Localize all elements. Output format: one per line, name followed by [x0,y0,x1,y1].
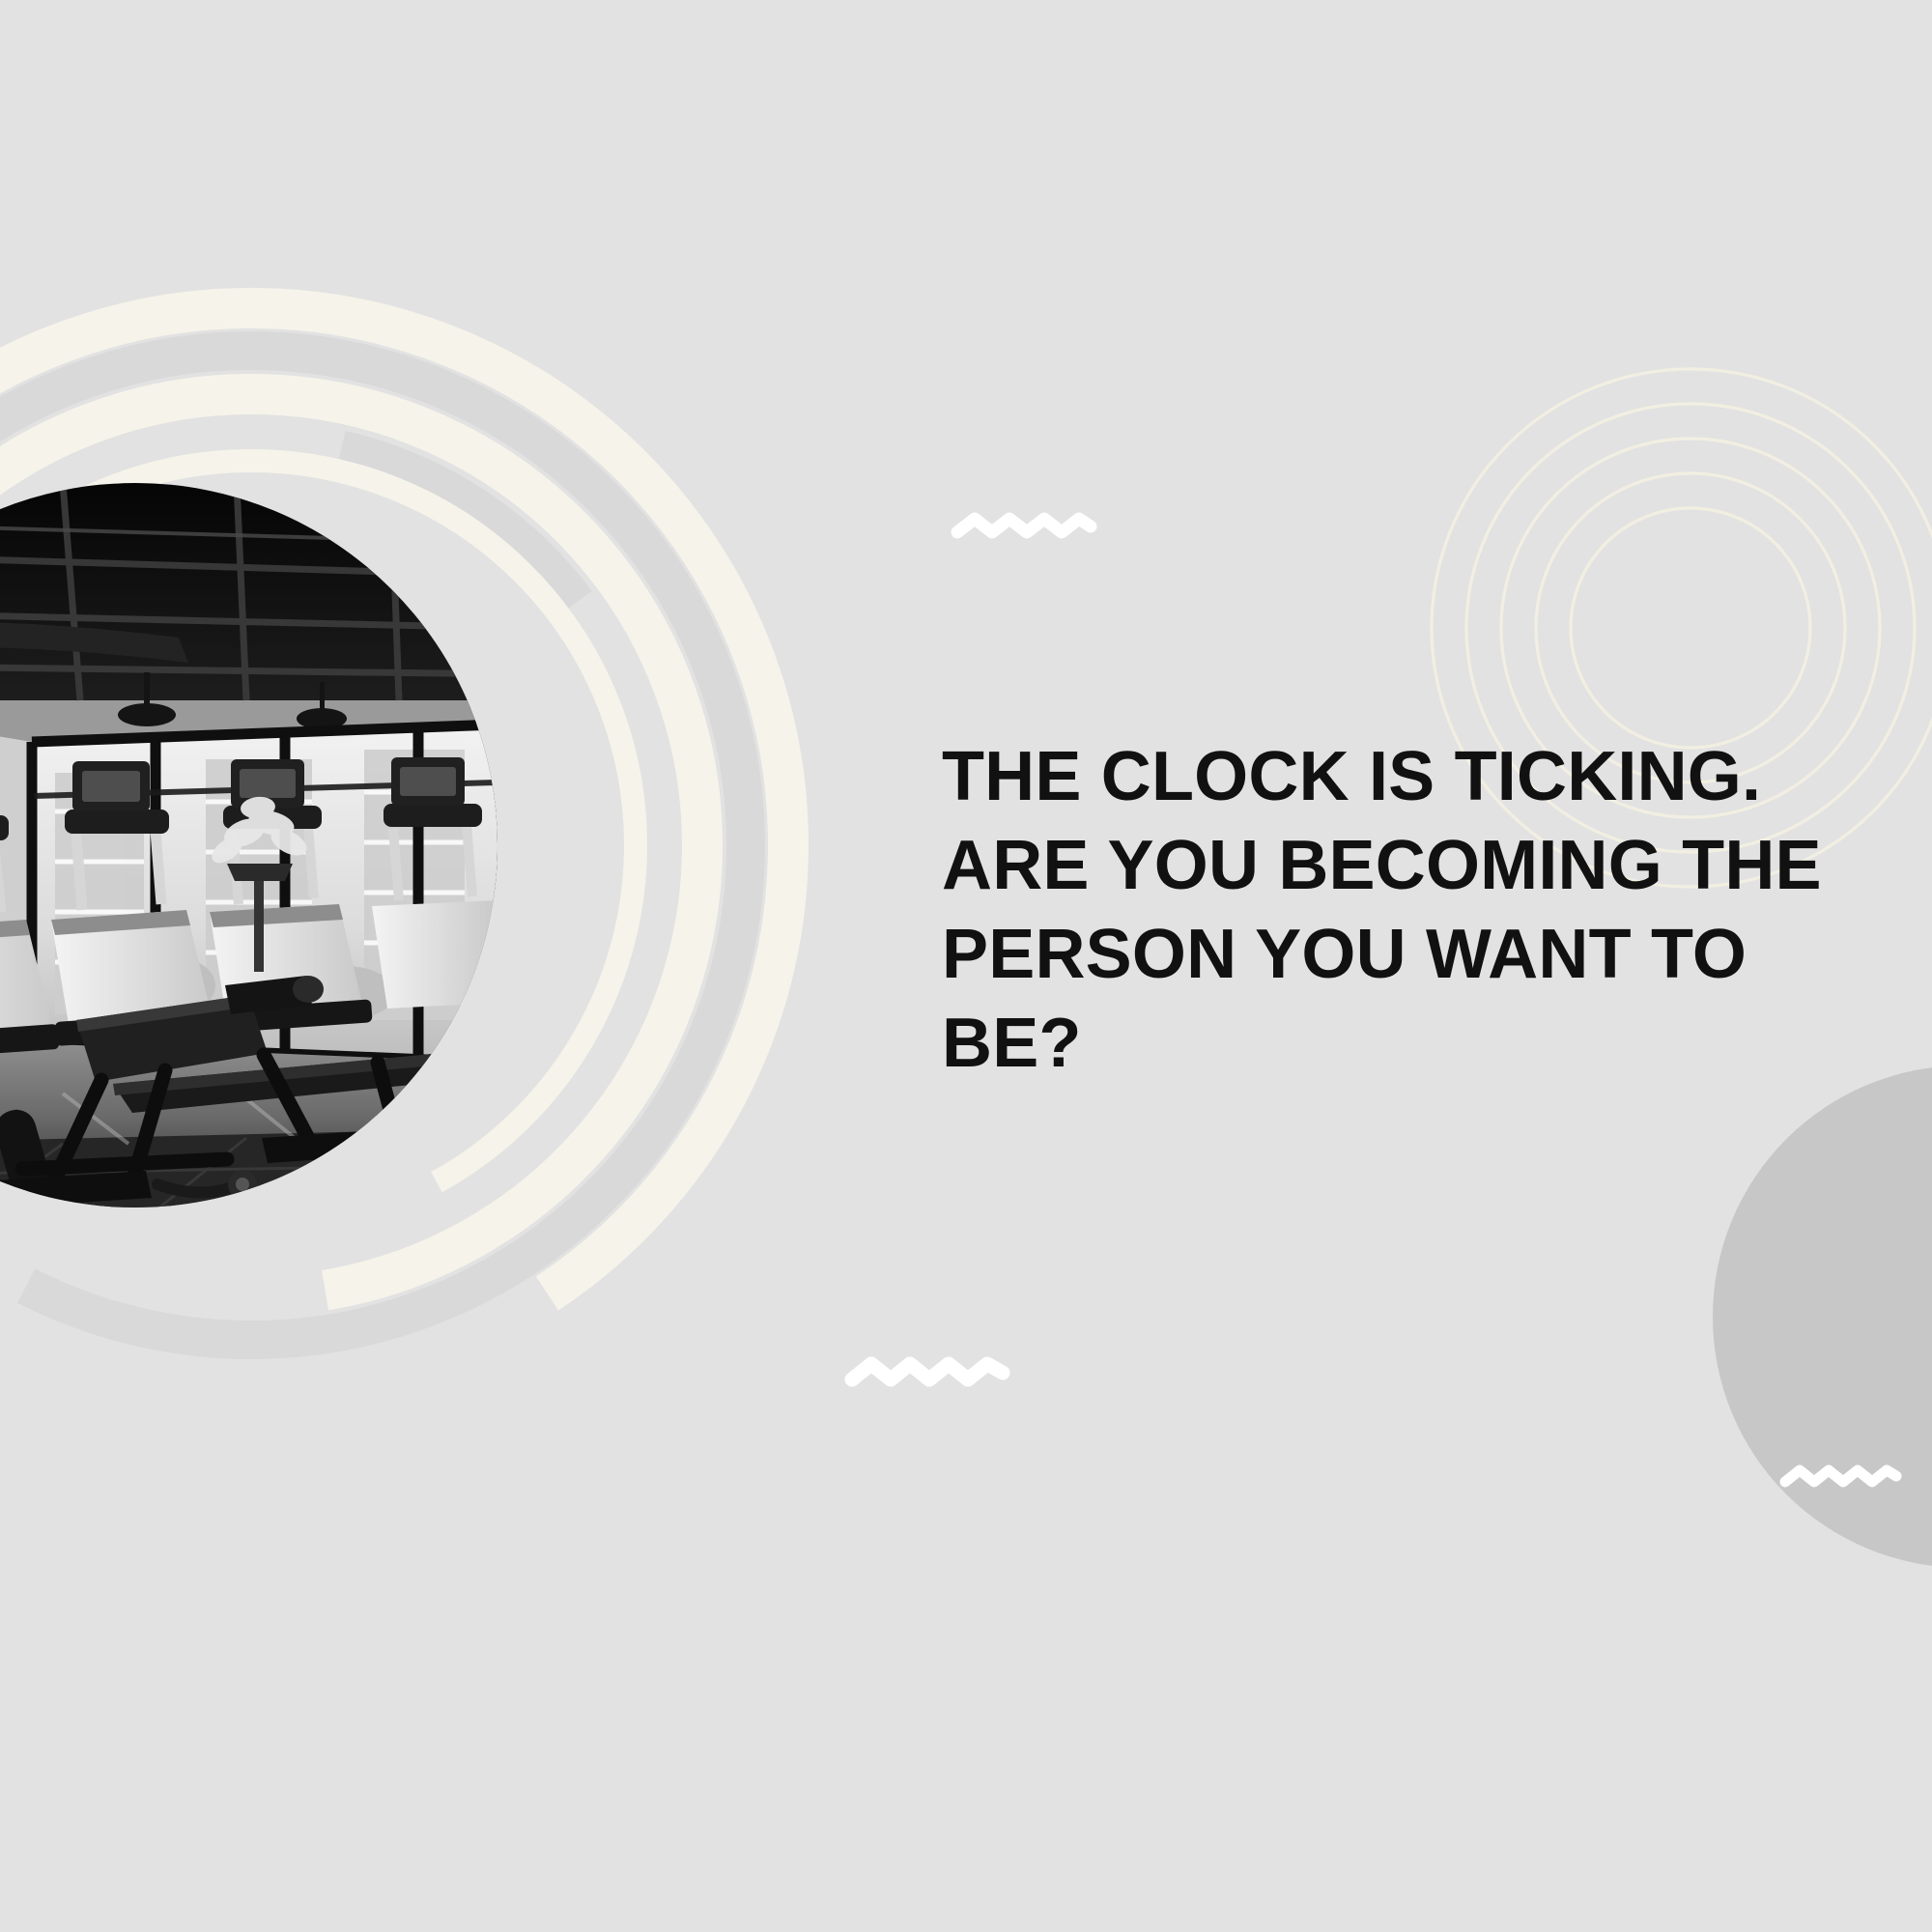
gym-photo-circle [0,483,497,1207]
wave-squiggle-icon-middle [845,1350,1009,1395]
thin-circle-5 [1571,508,1810,748]
headline-text: THE CLOCK IS TICKING. ARE YOU BECOMING T… [942,732,1850,1089]
poster-canvas: THE CLOCK IS TICKING. ARE YOU BECOMING T… [0,0,1932,1932]
gray-circle-decor [1713,1065,1932,1568]
wave-squiggle-icon-top [952,507,1096,546]
gym-photo-illustration [0,483,497,1207]
